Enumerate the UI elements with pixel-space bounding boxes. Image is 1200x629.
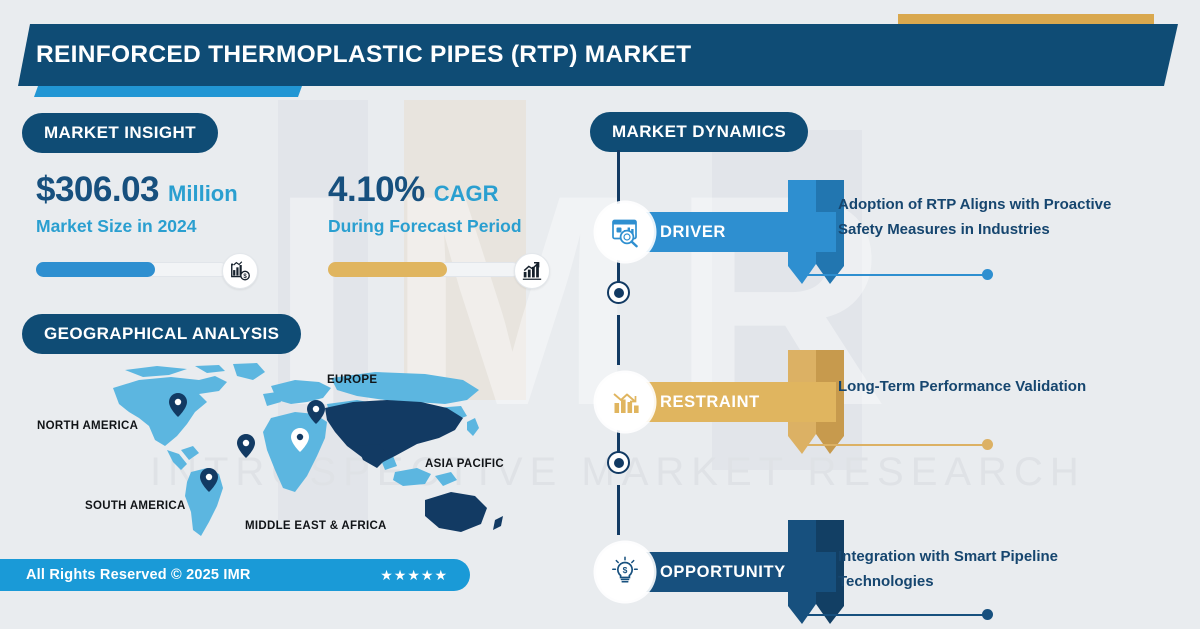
kpi-gauge: $: [36, 253, 258, 287]
dynamics-row-restraint[interactable]: RESTRAINT Long-Term Performance Validati…: [590, 350, 1200, 454]
world-map: NORTH AMERICA EUROPE ASIA PACIFIC SOUTH …: [95, 360, 515, 550]
page-title: REINFORCED THERMOPLASTIC PIPES (RTP) MAR…: [18, 41, 691, 69]
market-dynamics-timeline: DRIVER Adoption of RTP Aligns with Proac…: [590, 150, 1200, 600]
dynamics-row-opportunity[interactable]: $ OPPORTUNITY Integration with Smart Pip…: [590, 520, 1200, 624]
kpi-value: $306.03: [36, 170, 159, 210]
dynamics-caption-restraint: RESTRAINT: [660, 382, 760, 422]
dynamics-description-restraint: Long-Term Performance Validation: [838, 374, 1138, 399]
map-pin-south-america: [200, 468, 218, 497]
kpi-gauge: [328, 253, 550, 287]
map-pin-middle-east-africa: [237, 434, 255, 463]
growth-arrow-chart-icon: [514, 253, 550, 289]
title-banner: REINFORCED THERMOPLASTIC PIPES (RTP) MAR…: [18, 24, 1178, 86]
footer-bar: All Rights Reserved © 2025 IMR ★★★★★: [0, 559, 470, 591]
map-label-europe: EUROPE: [327, 374, 377, 386]
underline-rule: [802, 274, 989, 276]
geographical-analysis-label: GEOGRAPHICAL ANALYSIS: [44, 324, 279, 344]
endpoint-dot: [982, 439, 993, 450]
declining-bar-chart-icon: [596, 373, 654, 431]
infographic-canvas: IMR INTROSPECTIVE MARKET RESEARCH REINFO…: [0, 0, 1200, 600]
bar-chart-dollar-icon: $: [222, 253, 258, 289]
dynamics-description-opportunity: Integration with Smart Pipeline Technolo…: [838, 544, 1138, 594]
dynamics-row-driver[interactable]: DRIVER Adoption of RTP Aligns with Proac…: [590, 180, 1200, 284]
geographical-analysis-pill: GEOGRAPHICAL ANALYSIS: [22, 314, 301, 354]
map-pin-asia-pacific: [291, 428, 309, 457]
underline-rule: [802, 444, 989, 446]
dynamics-caption-driver: DRIVER: [660, 212, 726, 252]
market-dynamics-label: MARKET DYNAMICS: [612, 122, 786, 142]
copyright-text: All Rights Reserved © 2025 IMR: [26, 567, 251, 583]
map-label-middle-east-africa: MIDDLE EAST & AFRICA: [245, 520, 387, 532]
market-insight-label: MARKET INSIGHT: [44, 123, 196, 143]
map-label-north-america: NORTH AMERICA: [37, 420, 138, 432]
gauge-fill: [36, 262, 155, 277]
map-pin-north-america: [169, 393, 187, 422]
map-label-asia-pacific: ASIA PACIFIC: [425, 458, 504, 470]
rating-stars: ★★★★★: [380, 567, 448, 584]
title-underbar: [34, 86, 302, 97]
gauge-fill: [328, 262, 447, 277]
dynamics-description-driver: Adoption of RTP Aligns with Proactive Sa…: [838, 192, 1138, 242]
endpoint-dot: [982, 609, 993, 620]
kpi-subtitle: During Forecast Period: [328, 216, 578, 237]
dynamics-caption-opportunity: OPPORTUNITY: [660, 552, 786, 592]
kpi-card-cagr: 4.10% CAGR During Forecast Period: [328, 170, 578, 287]
underline-rule: [802, 614, 989, 616]
lightbulb-dollar-icon: $: [596, 543, 654, 601]
market-insight-pill: MARKET INSIGHT: [22, 113, 218, 153]
report-magnifier-icon: [596, 203, 654, 261]
timeline-node: [607, 281, 630, 304]
kpi-value: 4.10%: [328, 170, 425, 210]
kpi-card-market-size: $306.03 Million Market Size in 2024 $: [36, 170, 286, 287]
kpi-subtitle: Market Size in 2024: [36, 216, 286, 237]
svg-text:$: $: [623, 565, 628, 575]
market-dynamics-pill: MARKET DYNAMICS: [590, 112, 808, 152]
map-pin-europe: [307, 400, 325, 429]
kpi-unit: Million: [168, 181, 238, 207]
map-label-south-america: SOUTH AMERICA: [85, 500, 186, 512]
kpi-unit: CAGR: [434, 181, 499, 207]
endpoint-dot: [982, 269, 993, 280]
header-gold-accent: [898, 14, 1154, 24]
timeline-node: [607, 451, 630, 474]
